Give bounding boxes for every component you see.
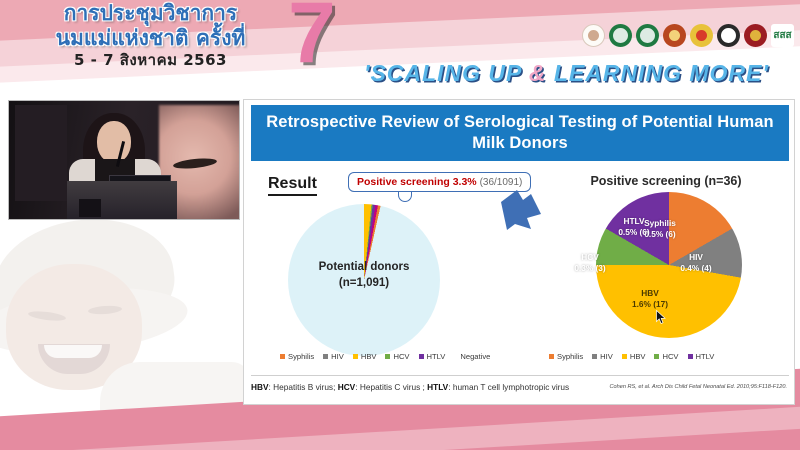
abbrev-hcv-key: HCV <box>338 382 356 392</box>
legend-label-hbv: HBV <box>361 352 377 361</box>
video-wall-panel <box>15 105 67 201</box>
government-emblem-logo <box>663 24 686 47</box>
legend2-label-syphilis: Syphilis <box>557 352 583 361</box>
tagline-part-2: LEARNING MORE' <box>546 60 768 86</box>
blue-arrow-icon <box>497 188 543 232</box>
podium-shape <box>67 181 177 219</box>
legend-item-hiv: HIV <box>323 352 344 361</box>
edition-number: 7 <box>288 0 336 76</box>
legend2-item-syphilis: Syphilis <box>549 352 583 361</box>
baby-teeth-shape <box>44 345 102 358</box>
callout-main-text: Positive screening 3.3% <box>357 176 477 188</box>
royal-emblem-logo <box>582 24 605 47</box>
thaihealth-sss-logo: สสส <box>771 24 794 47</box>
black-seal-logo <box>717 24 740 47</box>
conference-tagline: 'SCALING UP & LEARNING MORE' <box>364 60 769 87</box>
red-crest-logo <box>744 24 767 47</box>
podium-plate <box>79 199 101 217</box>
legend-swatch-hbv <box>353 354 358 359</box>
legend2-label-hcv: HCV <box>662 352 678 361</box>
ministry-of-health-logo <box>609 24 632 47</box>
thai-title-line-1: การประชุมวิชาการ <box>18 2 283 24</box>
slice-label-hcv-value: 0.3% (3) <box>566 263 614 274</box>
slide-panel: Retrospective Review of Serological Test… <box>243 99 795 405</box>
legend2-item-hbv: HBV <box>622 352 646 361</box>
legend-label-hcv: HCV <box>393 352 409 361</box>
conference-thai-title: การประชุมวิชาการ นมแม่แห่งชาติ ครั้งที่ … <box>18 2 283 69</box>
positive-screening-pie-title: Positive screening (n=36) <box>546 174 786 188</box>
slice-label-htlv: HTLV 0.5% (6) <box>608 216 660 238</box>
conference-banner: การประชุมวิชาการ นมแม่แห่งชาติ ครั้งที่ … <box>0 0 800 95</box>
thai-title-line-2: นมแม่แห่งชาติ ครั้งที่ <box>18 27 283 49</box>
result-heading: Result <box>268 175 317 196</box>
legend2-swatch-hcv <box>654 354 659 359</box>
legend-label-htlv: HTLV <box>427 352 446 361</box>
slice-label-hiv-value: 0.4% (4) <box>668 263 724 274</box>
legend2-item-hiv: HIV <box>592 352 613 361</box>
legend-item-negative: Negative <box>460 352 490 361</box>
legend-item-syphilis: Syphilis <box>280 352 314 361</box>
thai-breastfeeding-center-logo <box>636 24 659 47</box>
legend-swatch-hiv <box>323 354 328 359</box>
sponsor-logo-row: สสส <box>582 24 794 47</box>
positive-screening-legend: Syphilis HIV HBV HCV HTLV <box>549 352 714 361</box>
royal-crest-logo <box>690 24 713 47</box>
legend2-label-hbv: HBV <box>630 352 646 361</box>
slice-label-hbv: HBV 1.6% (17) <box>620 288 680 310</box>
legend-item-hbv: HBV <box>353 352 377 361</box>
slice-label-hiv: HIV 0.4% (4) <box>668 252 724 274</box>
potential-donors-legend: Syphilis HIV HBV HCV HTLV Negative <box>280 352 490 361</box>
slice-label-hbv-name: HBV <box>620 288 680 299</box>
tagline-ampersand: & <box>529 60 547 86</box>
legend2-item-hcv: HCV <box>654 352 678 361</box>
potential-donors-subtitle: (n=1,091) <box>288 276 440 292</box>
abbrev-htlv-value: : human T cell lymphotropic virus <box>448 382 569 392</box>
slide-footnote: HBV: Hepatitis B virus; HCV: Hepatitis C… <box>251 375 789 397</box>
legend-label-hiv: HIV <box>331 352 344 361</box>
legend-label-negative: Negative <box>460 352 490 361</box>
legend2-swatch-htlv <box>688 354 693 359</box>
slice-label-hcv: HCV 0.3% (3) <box>566 252 614 274</box>
tagline-part-1: 'SCALING UP <box>364 60 529 86</box>
legend-label-syphilis: Syphilis <box>288 352 314 361</box>
abbrev-hbv-key: HBV <box>251 382 269 392</box>
callout-leader-line <box>398 192 412 202</box>
legend2-label-hiv: HIV <box>600 352 613 361</box>
slice-label-htlv-name: HTLV <box>608 216 660 227</box>
abbrev-hbv-value: : Hepatitis B virus; <box>269 382 338 392</box>
speaker-face <box>97 121 131 163</box>
legend2-swatch-syphilis <box>549 354 554 359</box>
legend-swatch-htlv <box>419 354 424 359</box>
legend-item-htlv: HTLV <box>419 352 446 361</box>
conference-date: 5 - 7 สิงหาคม 2563 <box>18 53 283 69</box>
slice-label-hiv-name: HIV <box>668 252 724 263</box>
callout-fraction: (36/1091) <box>480 177 523 188</box>
legend2-item-htlv: HTLV <box>688 352 715 361</box>
mouse-cursor-icon <box>656 310 667 325</box>
abbrev-htlv-key: HTLV <box>427 382 448 392</box>
abbrev-hcv-value: : Hepatitis C virus ; <box>355 382 427 392</box>
legend2-swatch-hbv <box>622 354 627 359</box>
baby-watermark-image <box>0 212 250 412</box>
slice-label-htlv-value: 0.5% (6) <box>608 227 660 238</box>
legend-item-hcv: HCV <box>385 352 409 361</box>
legend2-swatch-hiv <box>592 354 597 359</box>
speaker-video-inset[interactable] <box>8 100 240 220</box>
source-citation: Cohen RS, et al. Arch Dis Child Fetal Ne… <box>609 384 787 390</box>
slice-label-hcv-name: HCV <box>566 252 614 263</box>
legend-swatch-hcv <box>385 354 390 359</box>
legend2-label-htlv: HTLV <box>696 352 715 361</box>
slice-label-hbv-value: 1.6% (17) <box>620 299 680 310</box>
legend-swatch-syphilis <box>280 354 285 359</box>
potential-donors-pie-label: Potential donors (n=1,091) <box>288 260 440 291</box>
potential-donors-title: Potential donors <box>288 260 440 276</box>
slide-title: Retrospective Review of Serological Test… <box>251 105 789 161</box>
abbreviation-definitions: HBV: Hepatitis B virus; HCV: Hepatitis C… <box>251 382 569 392</box>
presentation-screen: การประชุมวิชาการ นมแม่แห่งชาติ ครั้งที่ … <box>0 0 800 450</box>
